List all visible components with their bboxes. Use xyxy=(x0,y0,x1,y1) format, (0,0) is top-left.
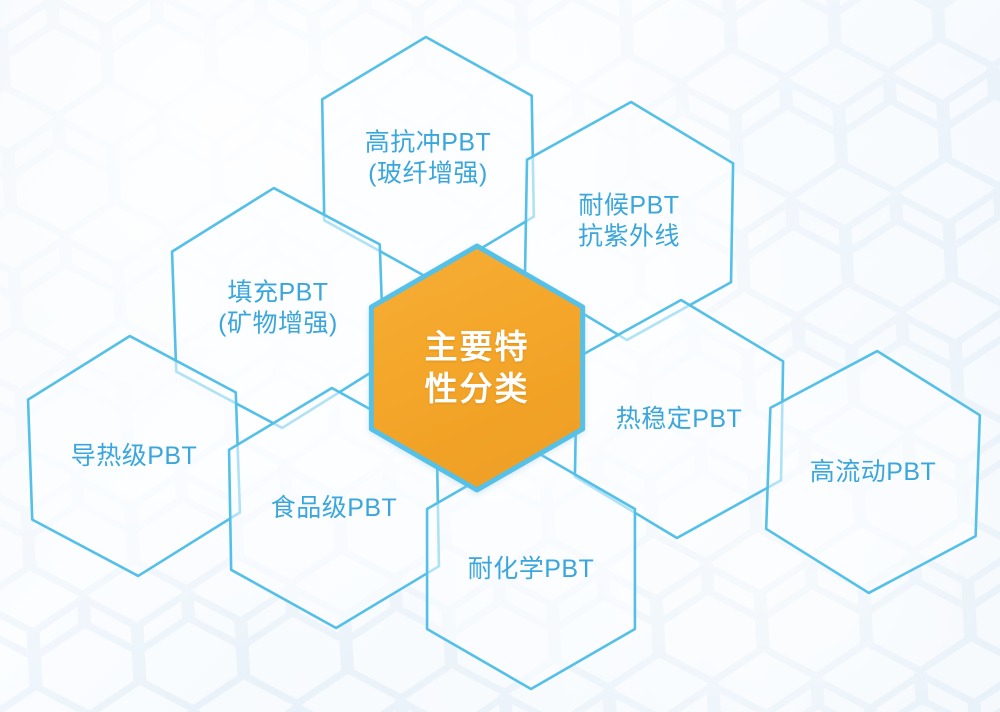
diagram-canvas: 高抗冲PBT(玻纤增强)耐候PBT抗紫外线填充PBT(矿物增强)热稳定PBT导热… xyxy=(0,0,1000,712)
